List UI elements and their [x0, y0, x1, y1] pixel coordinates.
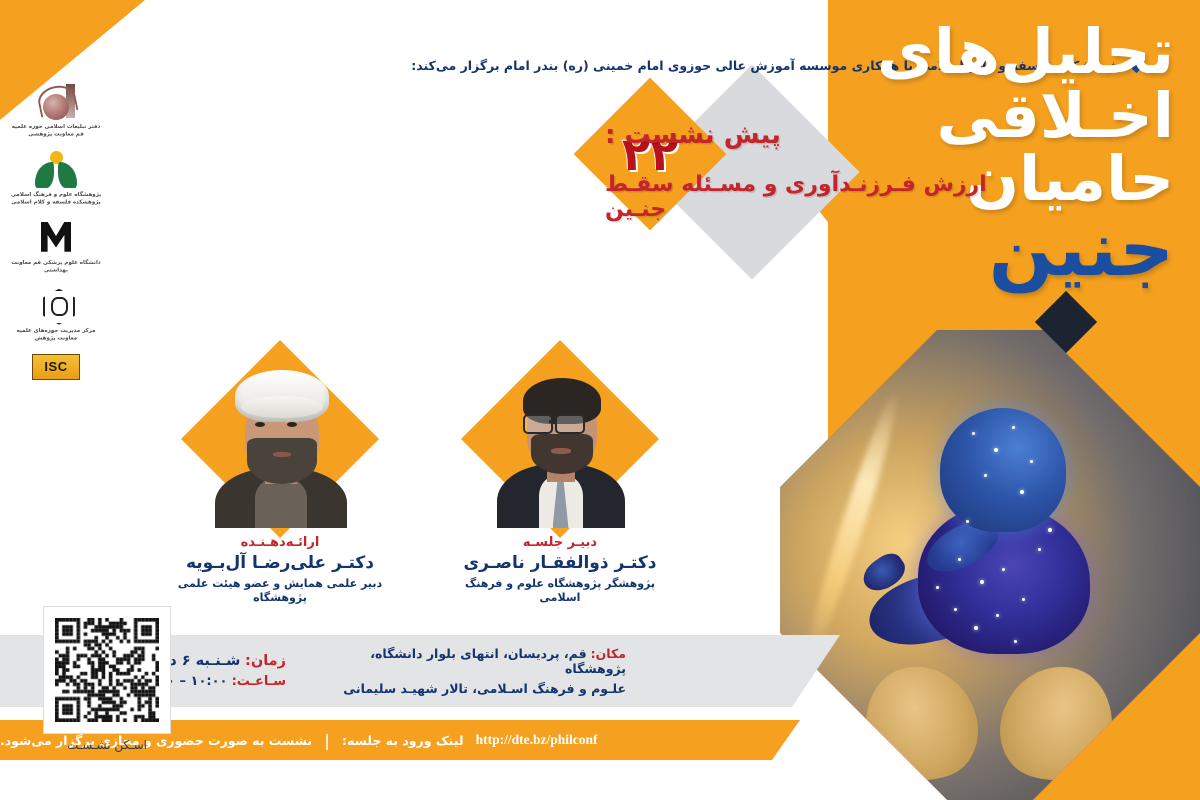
logo-caption: دفتر تبلیغات اسلامی حوزه علمیه قم معاونت…	[10, 124, 103, 139]
speaker-affiliation: پژوهشگر پژوهشگاه علوم و فرهنگ اسلامی	[447, 577, 673, 606]
speakers-section: ارائـه‌دهـنـده دکتـر علی‌رضـا آل‌بـویه د…	[150, 352, 690, 612]
session-title: ارزش فـرزنـدآوری و مسـئله سقـط جنـین	[605, 172, 1035, 222]
green-book-sun-icon	[33, 150, 79, 190]
daftar-tablighat-logo: دفتر تبلیغات اسلامی حوزه علمیه قم معاونت…	[19, 82, 93, 136]
logo-caption: پژوهشگاه علوم و فرهنگ اسلامی پژوهشکده فل…	[10, 192, 103, 207]
isc-logo: ISC	[19, 354, 93, 380]
logo-caption: مرکز مدیریت حوزه‌های علمیه معاونت پژوهش	[10, 328, 103, 343]
fetus-figure	[862, 408, 1112, 698]
pre-session-label: پیش نشست :	[605, 120, 1035, 150]
cupped-hands	[864, 660, 1114, 790]
speaker-name: دکتـر علی‌رضـا آل‌بـویه	[167, 553, 393, 573]
speaker-affiliation: دبیر علمی همایش و عضو هیئت علمی پژوهشگاه	[167, 577, 393, 606]
conference-poster: ۲۲	[0, 0, 1200, 800]
hour-label: سـاعـت:	[232, 674, 286, 689]
separator: |	[324, 731, 330, 750]
qr-code-block: اسـکن نشـسـت	[44, 607, 170, 752]
title-line-1: تحلیل‌های	[814, 22, 1174, 82]
isc-badge-icon: ISC	[32, 354, 80, 380]
meeting-link-url[interactable]: http://dte.bz/philconf	[476, 732, 598, 748]
star-specks	[862, 408, 1112, 698]
speaker-photo	[473, 352, 648, 527]
monogram-icon	[33, 218, 79, 258]
qr-code[interactable]	[44, 607, 170, 733]
place-line-2: علـوم و فرهنگ اسـلامی، تالار شهیـد سلیما…	[343, 681, 626, 696]
meeting-link-label: لینک ورود به جلسه:	[342, 733, 464, 748]
pajoheshgah-olum-farhang-logo: پژوهشگاه علوم و فرهنگ اسلامی پژوهشکده فل…	[19, 150, 93, 204]
hex-spiral-icon	[33, 286, 79, 326]
event-location: مکان: قم، پردیسان، انتهای بلوار دانشگاه،…	[310, 646, 640, 696]
title-line-4: جنین	[814, 213, 1174, 286]
artwork-diamond-frame	[780, 330, 1200, 800]
dome-globe-icon	[33, 82, 79, 122]
sponsor-logos: دفتر تبلیغات اسلامی حوزه علمیه قم معاونت…	[18, 82, 94, 380]
speaker-name: دکتـر ذوالفقـار ناصـری	[447, 553, 673, 573]
qr-caption: اسـکن نشـسـت	[44, 738, 170, 752]
session-title-block: پیش نشست : ارزش فـرزنـدآوری و مسـئله سقـ…	[605, 120, 1035, 222]
man-glasses-portrait	[473, 352, 648, 527]
markaz-modiriat-hawza-logo: مرکز مدیریت حوزه‌های علمیه معاونت پژوهش	[19, 286, 93, 340]
logo-caption: دانشگاه علوم پزشکی قم معاونت بهداشتی	[10, 260, 103, 275]
daneshgah-olum-pezeshki-qom-logo: دانشگاه علوم پزشکی قم معاونت بهداشتی	[19, 218, 93, 272]
speaker-card: دبیـر جلسـه دکتـر ذوالفقـار ناصـری پژوهش…	[447, 352, 673, 612]
cosmic-fetus-in-hands-illustration	[780, 330, 1200, 800]
cleric-turban-portrait	[193, 352, 368, 527]
place-line-1: قم، پردیسان، انتهای بلوار دانشگاه، پژوهش…	[370, 646, 626, 676]
place-label: مکان:	[591, 646, 626, 661]
speaker-card: ارائـه‌دهـنـده دکتـر علی‌رضـا آل‌بـویه د…	[167, 352, 393, 612]
speaker-photo	[193, 352, 368, 527]
time-label: زمان:	[245, 653, 286, 669]
